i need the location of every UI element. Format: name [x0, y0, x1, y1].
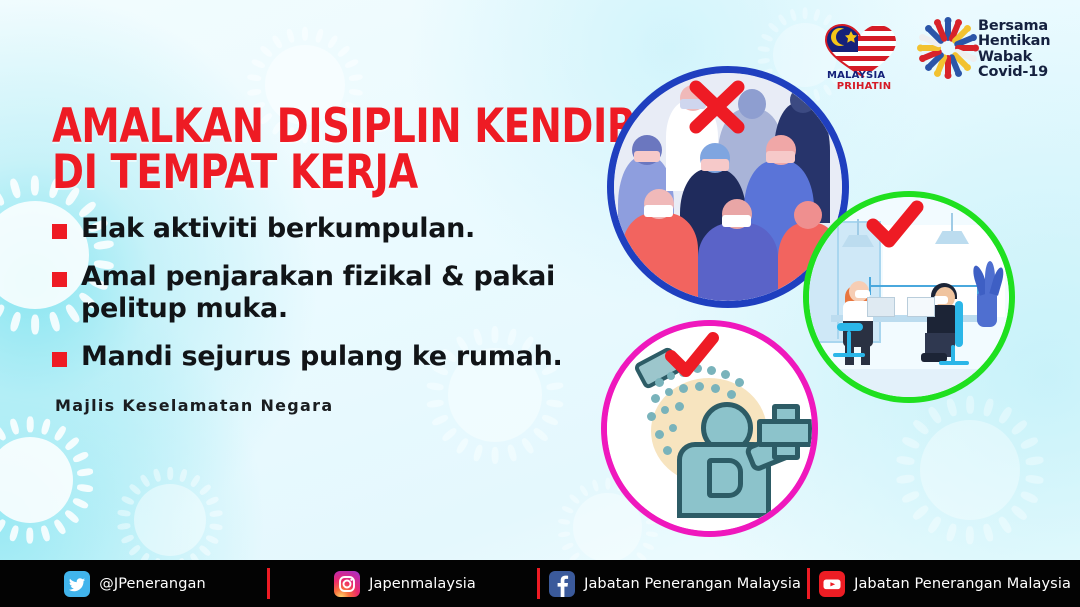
- bullet-square-icon: [52, 352, 67, 367]
- people-burst-icon: [918, 18, 978, 78]
- bullet-list: Elak aktiviti berkumpulan. Amal penjarak…: [52, 213, 612, 388]
- list-item: Mandi sejurus pulang ke rumah.: [52, 341, 612, 373]
- social-label: Japenmalaysia: [369, 576, 476, 592]
- bullet-text: Mandi sejurus pulang ke rumah.: [81, 341, 562, 373]
- bullet-square-icon: [52, 272, 67, 287]
- social-label: @JPenerangan: [99, 576, 206, 592]
- youtube-icon: [819, 571, 845, 597]
- malaysia-prihatin-logo: MALAYSIA PRIHATIN: [812, 20, 916, 92]
- virus-decoration-icon: [0, 420, 90, 540]
- facebook-icon: [549, 571, 575, 597]
- list-item: Amal penjarakan fizikal & pakai pelitup …: [52, 261, 612, 325]
- social-item-youtube[interactable]: Jabatan Penerangan Malaysia: [810, 560, 1080, 607]
- cross-mark-icon: [686, 79, 748, 137]
- bersama-hentikan-logo: Bersama Hentikan Wabak Covid-19: [918, 16, 1070, 94]
- twitter-icon: [64, 571, 90, 597]
- social-item-twitter[interactable]: @JPenerangan: [0, 560, 270, 607]
- agency-attribution: Majlis Keselamatan Negara: [55, 396, 333, 415]
- prihatin-word-malaysia: MALAYSIA: [827, 70, 885, 81]
- prihatin-wordmark: MALAYSIA PRIHATIN: [812, 70, 916, 92]
- check-mark-icon: [663, 332, 721, 382]
- instagram-icon: [334, 571, 360, 597]
- check-mark-icon: [863, 199, 925, 253]
- bullet-text: Elak aktiviti berkumpulan.: [81, 213, 475, 245]
- social-label: Jabatan Penerangan Malaysia: [584, 576, 801, 592]
- social-item-facebook[interactable]: Jabatan Penerangan Malaysia: [540, 560, 810, 607]
- social-media-bar: @JPenerangan Japenmalaysia Jabatan Pener…: [0, 560, 1080, 607]
- bersama-logo-text: Bersama Hentikan Wabak Covid-19: [978, 19, 1050, 80]
- prihatin-word-prihatin: PRIHATIN: [837, 81, 892, 92]
- bullet-text: Amal penjarakan fizikal & pakai pelitup …: [81, 261, 586, 325]
- list-item: Elak aktiviti berkumpulan.: [52, 213, 612, 245]
- badge-office: [803, 191, 1015, 403]
- virus-decoration-icon: [120, 470, 220, 570]
- poster-canvas: AMALKAN DISIPLIN KENDIRI DI TEMPAT KERJA…: [0, 0, 1080, 607]
- page-title: AMALKAN DISIPLIN KENDIRI DI TEMPAT KERJA: [52, 104, 650, 196]
- social-label: Jabatan Penerangan Malaysia: [854, 576, 1071, 592]
- bullet-square-icon: [52, 224, 67, 239]
- virus-decoration-icon: [900, 400, 1040, 540]
- badge-shower: [601, 320, 818, 537]
- social-item-instagram[interactable]: Japenmalaysia: [270, 560, 540, 607]
